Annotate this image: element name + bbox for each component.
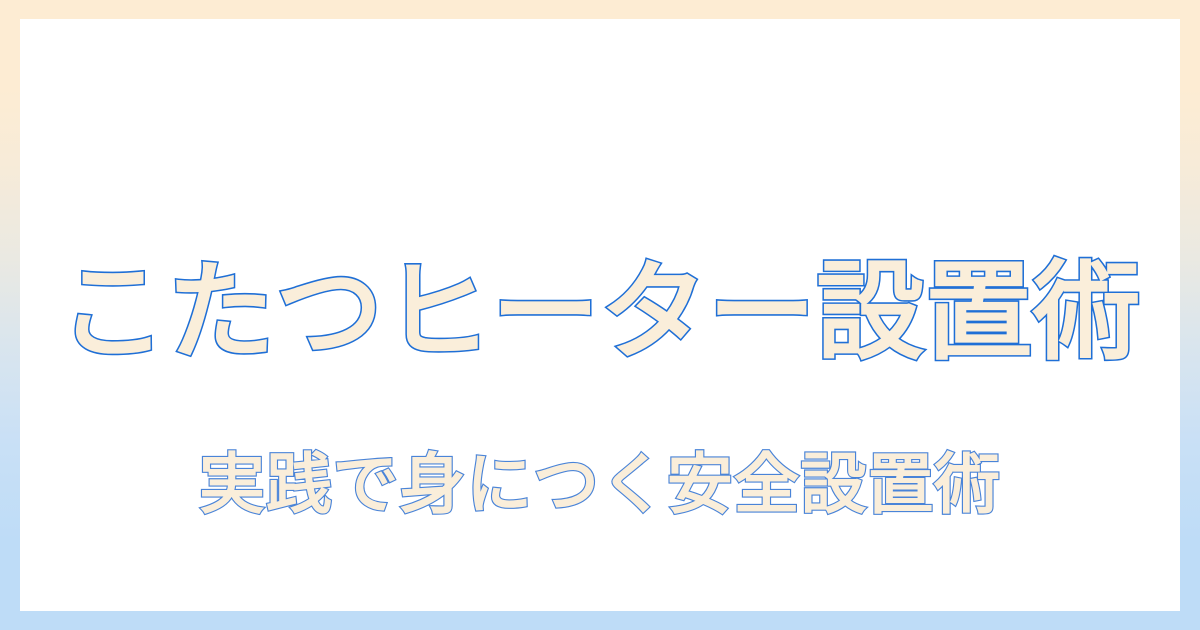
content-card: こたつヒーター設置術 実践で身につく安全設置術: [20, 19, 1180, 611]
thumbnail-canvas: こたつヒーター設置術 実践で身につく安全設置術: [0, 0, 1200, 630]
page-subtitle: 実践で身につく安全設置術: [20, 452, 1180, 518]
page-title: こたつヒーター設置術: [20, 259, 1180, 367]
hero-text-block: こたつヒーター設置術 実践で身につく安全設置術: [20, 19, 1180, 611]
